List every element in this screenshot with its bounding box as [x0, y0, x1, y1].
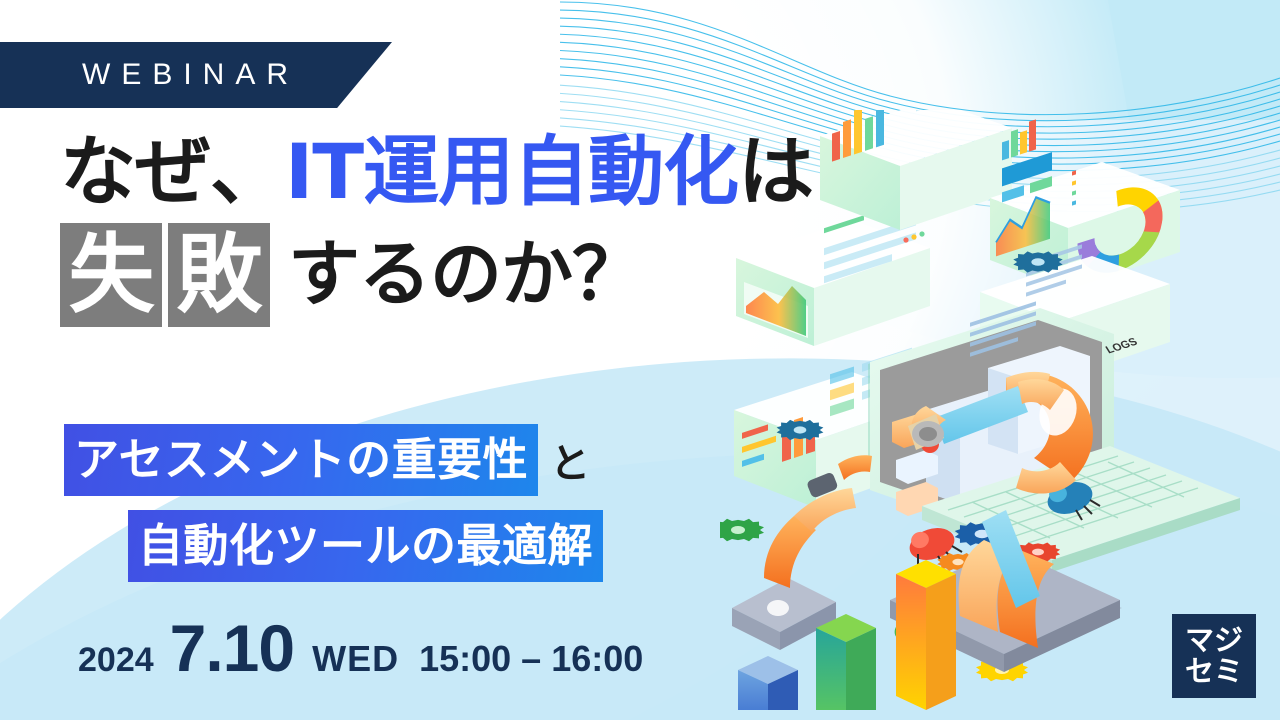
- headline-keyword-box-1: 失: [60, 223, 162, 327]
- bar-3d-blue: [738, 656, 798, 710]
- headline-line-1: なぜ、IT運用自動化は: [60, 132, 813, 213]
- subtitle-chip-1: アセスメントの重要性: [64, 424, 538, 496]
- subtitle-row-2: 自動化ツールの最適解: [128, 510, 603, 582]
- headline-line-2: 失敗するのか？: [60, 223, 813, 327]
- headline-prefix: なぜ、: [60, 132, 285, 213]
- headline-particle: は: [738, 132, 813, 213]
- event-day: 7.10: [170, 610, 294, 686]
- webinar-ribbon: WEBINAR: [0, 42, 392, 108]
- event-time-range: 15:00 – 16:00: [419, 638, 643, 680]
- gear-blue: [1013, 251, 1062, 272]
- subtitle: アセスメントの重要性 と 自動化ツールの最適解: [64, 424, 603, 582]
- logo-line-1: マジ: [1185, 625, 1243, 656]
- headline: なぜ、IT運用自動化は 失敗するのか？: [60, 132, 813, 327]
- webinar-banner: REPORTS LOGS: [0, 0, 1280, 720]
- bar-3d-green: [816, 614, 876, 710]
- dashboard-panel-bar-chart: [820, 110, 1012, 230]
- headline-keyword-blue: IT運用自動化: [285, 132, 738, 213]
- event-year: 2024: [78, 641, 154, 680]
- majiseminar-logo[interactable]: マジ セミ: [1172, 614, 1256, 698]
- subtitle-chip-2: 自動化ツールの最適解: [128, 510, 603, 582]
- logo-line-2: セミ: [1185, 656, 1243, 687]
- subtitle-row-1: アセスメントの重要性 と: [64, 424, 603, 496]
- headline-line-2-tail: するのか？: [288, 236, 643, 312]
- gear-green: [720, 519, 764, 541]
- headline-keyword-box-2: 敗: [168, 223, 270, 327]
- bar-3d-orange: [896, 560, 956, 710]
- event-datetime: 2024 7.10 WED 15:00 – 16:00: [78, 610, 643, 686]
- gear-blue-3: [777, 420, 824, 440]
- event-day-of-week: WED: [312, 638, 399, 680]
- webinar-ribbon-label: WEBINAR: [82, 58, 299, 92]
- subtitle-conjunction: と: [550, 431, 590, 489]
